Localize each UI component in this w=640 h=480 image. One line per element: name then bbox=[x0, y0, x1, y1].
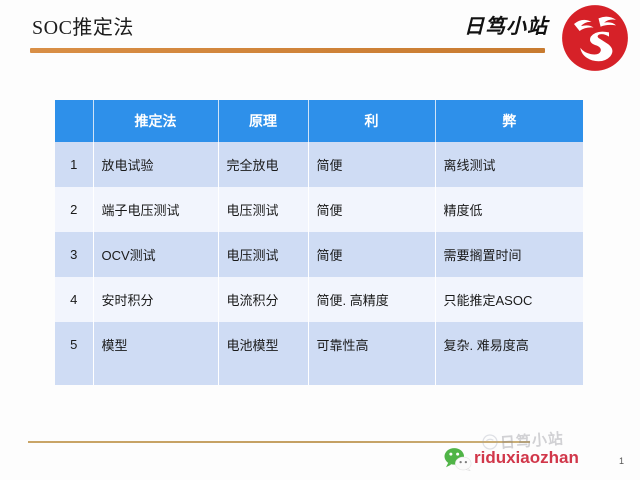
table-bottom-band bbox=[55, 367, 583, 385]
cell-con: 精度低 bbox=[435, 187, 583, 232]
page-number: 1 bbox=[619, 456, 624, 466]
wechat-id-label: riduxiaozhan bbox=[474, 448, 579, 468]
cell-method: 放电试验 bbox=[93, 142, 218, 187]
brand-name: 日笃小站 bbox=[464, 10, 548, 39]
soc-method-table: 推定法 原理 利 弊 1 放电试验 完全放电 简便 离线测试 2 端子电压测试 bbox=[55, 100, 583, 367]
cell-principle: 电池模型 bbox=[218, 322, 308, 367]
cell-con: 只能推定ASOC bbox=[435, 277, 583, 322]
cell-principle: 完全放电 bbox=[218, 142, 308, 187]
table-bottom-band-cell bbox=[436, 367, 583, 385]
cell-con: 需要搁置时间 bbox=[435, 232, 583, 277]
cell-method: 端子电压测试 bbox=[93, 187, 218, 232]
table-header-row: 推定法 原理 利 弊 bbox=[55, 100, 583, 142]
cell-pro: 简便 bbox=[308, 232, 435, 277]
cell-method: 模型 bbox=[93, 322, 218, 367]
table-row: 2 端子电压测试 电压测试 简便 精度低 bbox=[55, 187, 583, 232]
cell-con: 复杂. 难易度高 bbox=[435, 322, 583, 367]
table-bottom-band-cell bbox=[219, 367, 309, 385]
column-header-principle: 原理 bbox=[218, 100, 308, 142]
table-row: 5 模型 电池模型 可靠性高 复杂. 难易度高 bbox=[55, 322, 583, 367]
cell-index: 4 bbox=[55, 277, 93, 322]
cell-principle: 电流积分 bbox=[218, 277, 308, 322]
table-row: 3 OCV测试 电压测试 简便 需要搁置时间 bbox=[55, 232, 583, 277]
cell-pro: 简便 bbox=[308, 187, 435, 232]
column-header-pro: 利 bbox=[308, 100, 435, 142]
slide-canvas: SOC推定法 日笃小站 推定法 原理 利 弊 bbox=[0, 0, 640, 480]
table-body: 1 放电试验 完全放电 简便 离线测试 2 端子电压测试 电压测试 简便 精度低… bbox=[55, 142, 583, 367]
cell-principle: 电压测试 bbox=[218, 187, 308, 232]
cell-index: 5 bbox=[55, 322, 93, 367]
table-bottom-band-cell bbox=[94, 367, 219, 385]
wechat-icon bbox=[443, 447, 473, 471]
cell-con: 离线测试 bbox=[435, 142, 583, 187]
cell-method: 安时积分 bbox=[93, 277, 218, 322]
table-row: 1 放电试验 完全放电 简便 离线测试 bbox=[55, 142, 583, 187]
page-title: SOC推定法 bbox=[32, 11, 134, 40]
table-header: 推定法 原理 利 弊 bbox=[55, 100, 583, 142]
column-header-con: 弊 bbox=[435, 100, 583, 142]
soc-method-table-wrapper: 推定法 原理 利 弊 1 放电试验 完全放电 简便 离线测试 2 端子电压测试 bbox=[55, 100, 583, 385]
brand-logo-icon bbox=[560, 3, 630, 73]
cell-principle: 电压测试 bbox=[218, 232, 308, 277]
header-divider bbox=[30, 48, 545, 53]
cell-method: OCV测试 bbox=[93, 232, 218, 277]
cell-index: 3 bbox=[55, 232, 93, 277]
column-header-method: 推定法 bbox=[93, 100, 218, 142]
cell-pro: 可靠性高 bbox=[308, 322, 435, 367]
table-row: 4 安时积分 电流积分 简便. 高精度 只能推定ASOC bbox=[55, 277, 583, 322]
table-bottom-band-cell bbox=[309, 367, 436, 385]
cell-pro: 简便. 高精度 bbox=[308, 277, 435, 322]
table-bottom-band-cell bbox=[55, 367, 94, 385]
column-header-index bbox=[55, 100, 93, 142]
cell-index: 1 bbox=[55, 142, 93, 187]
cell-pro: 简便 bbox=[308, 142, 435, 187]
footer-divider bbox=[28, 441, 530, 443]
cell-index: 2 bbox=[55, 187, 93, 232]
